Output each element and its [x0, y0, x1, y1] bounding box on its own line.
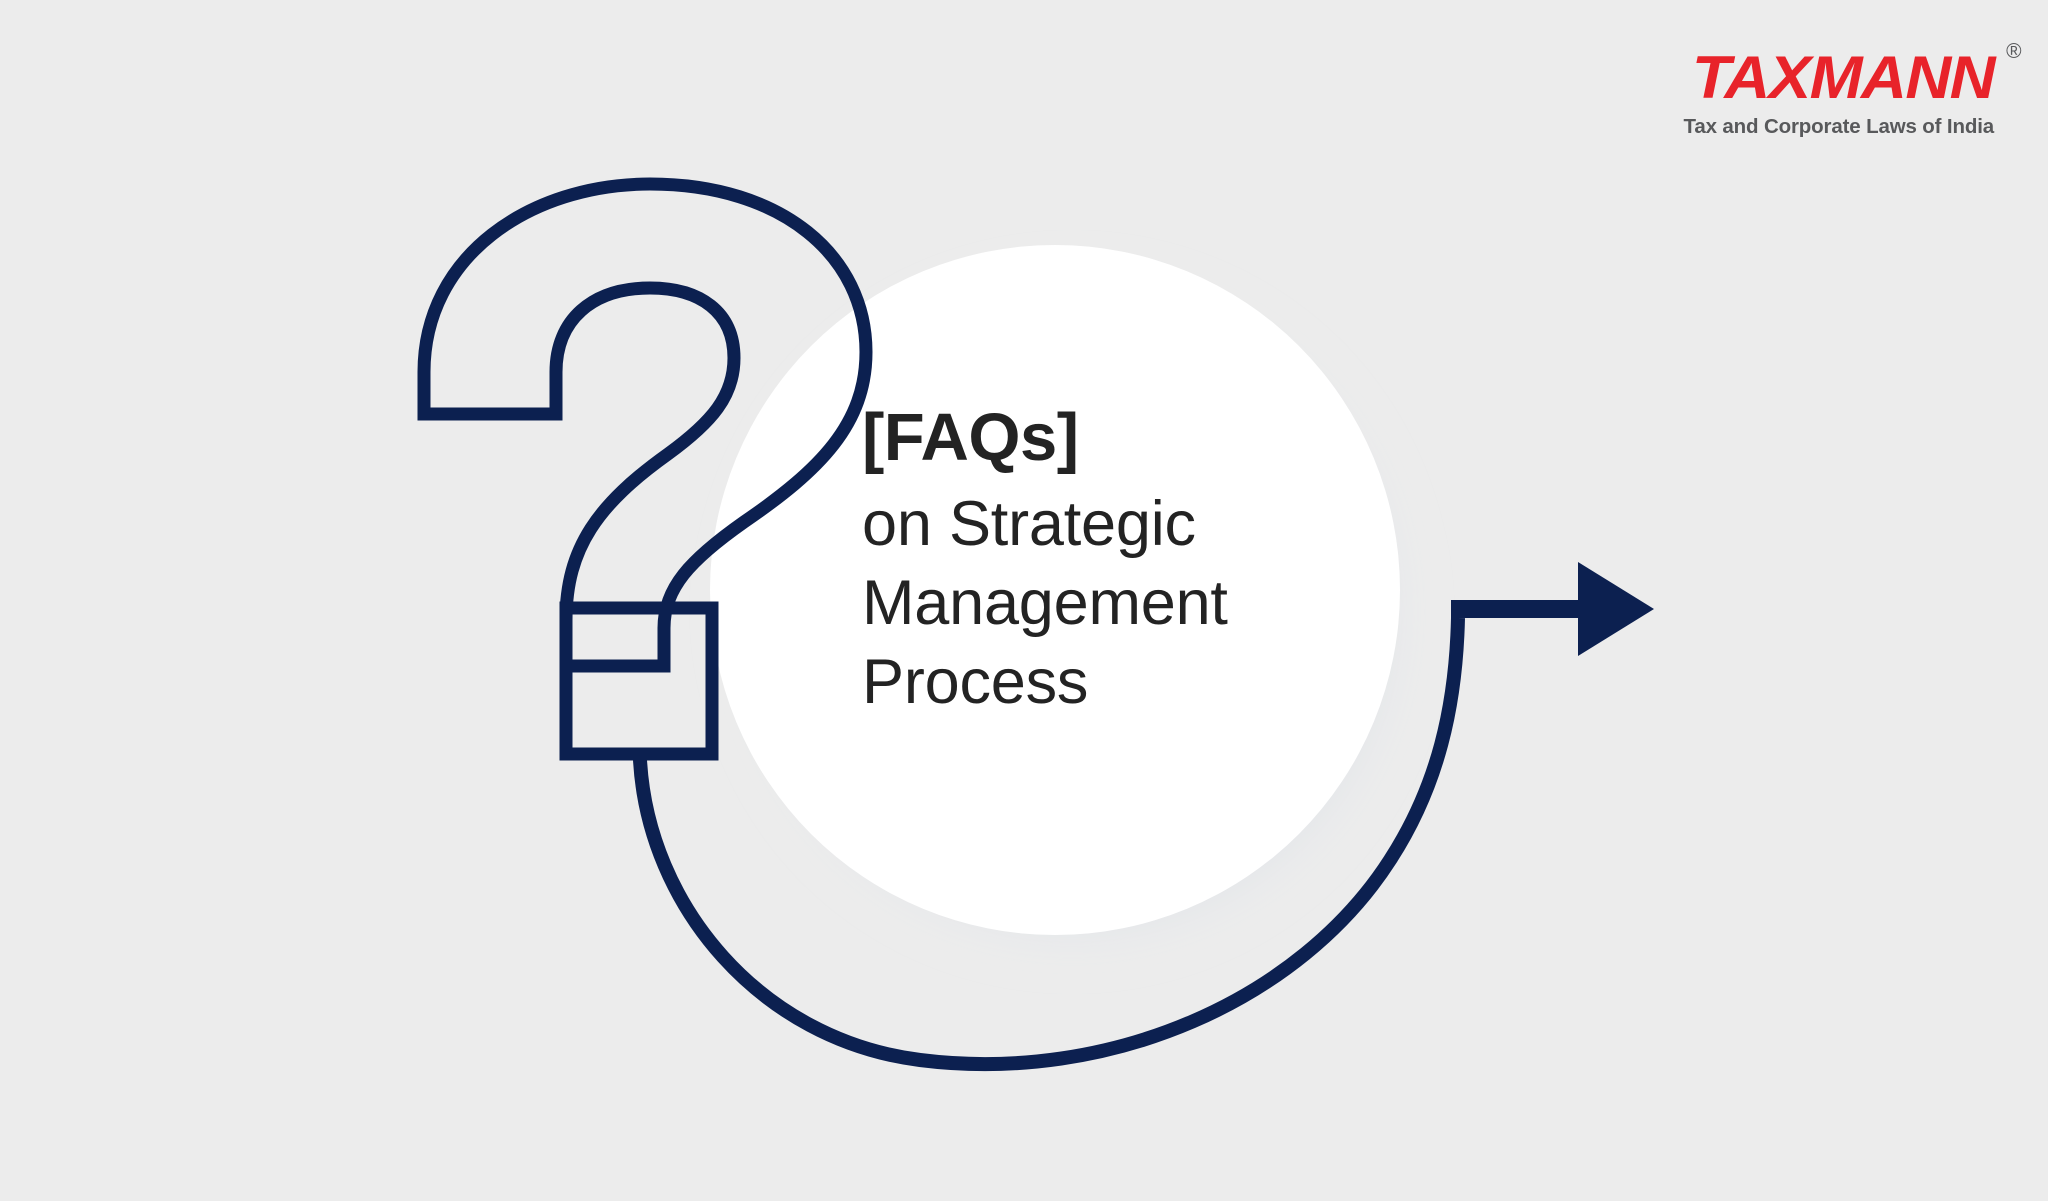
taxmann-tagline: Tax and Corporate Laws of India	[1684, 117, 1995, 138]
slide-canvas: [FAQs] on Strategic Management Process T…	[0, 0, 2048, 1201]
taxmann-wordmark: TAXMANN ®	[1692, 48, 1994, 108]
taxmann-logo: TAXMANN ® Tax and Corporate Laws of Indi…	[1684, 48, 1995, 138]
headline-block: [FAQs] on Strategic Management Process	[862, 404, 1422, 714]
headline-line-management: Management	[862, 572, 1422, 635]
taxmann-wordmark-text: TAXMANN	[1692, 44, 1994, 111]
registered-trademark-icon: ®	[2006, 41, 2020, 62]
headline-line-on-strategic: on Strategic	[862, 493, 1422, 556]
arrow-shaft	[1451, 600, 1592, 618]
headline-line-process: Process	[862, 651, 1422, 714]
headline-line-faqs: [FAQs]	[862, 404, 1422, 471]
